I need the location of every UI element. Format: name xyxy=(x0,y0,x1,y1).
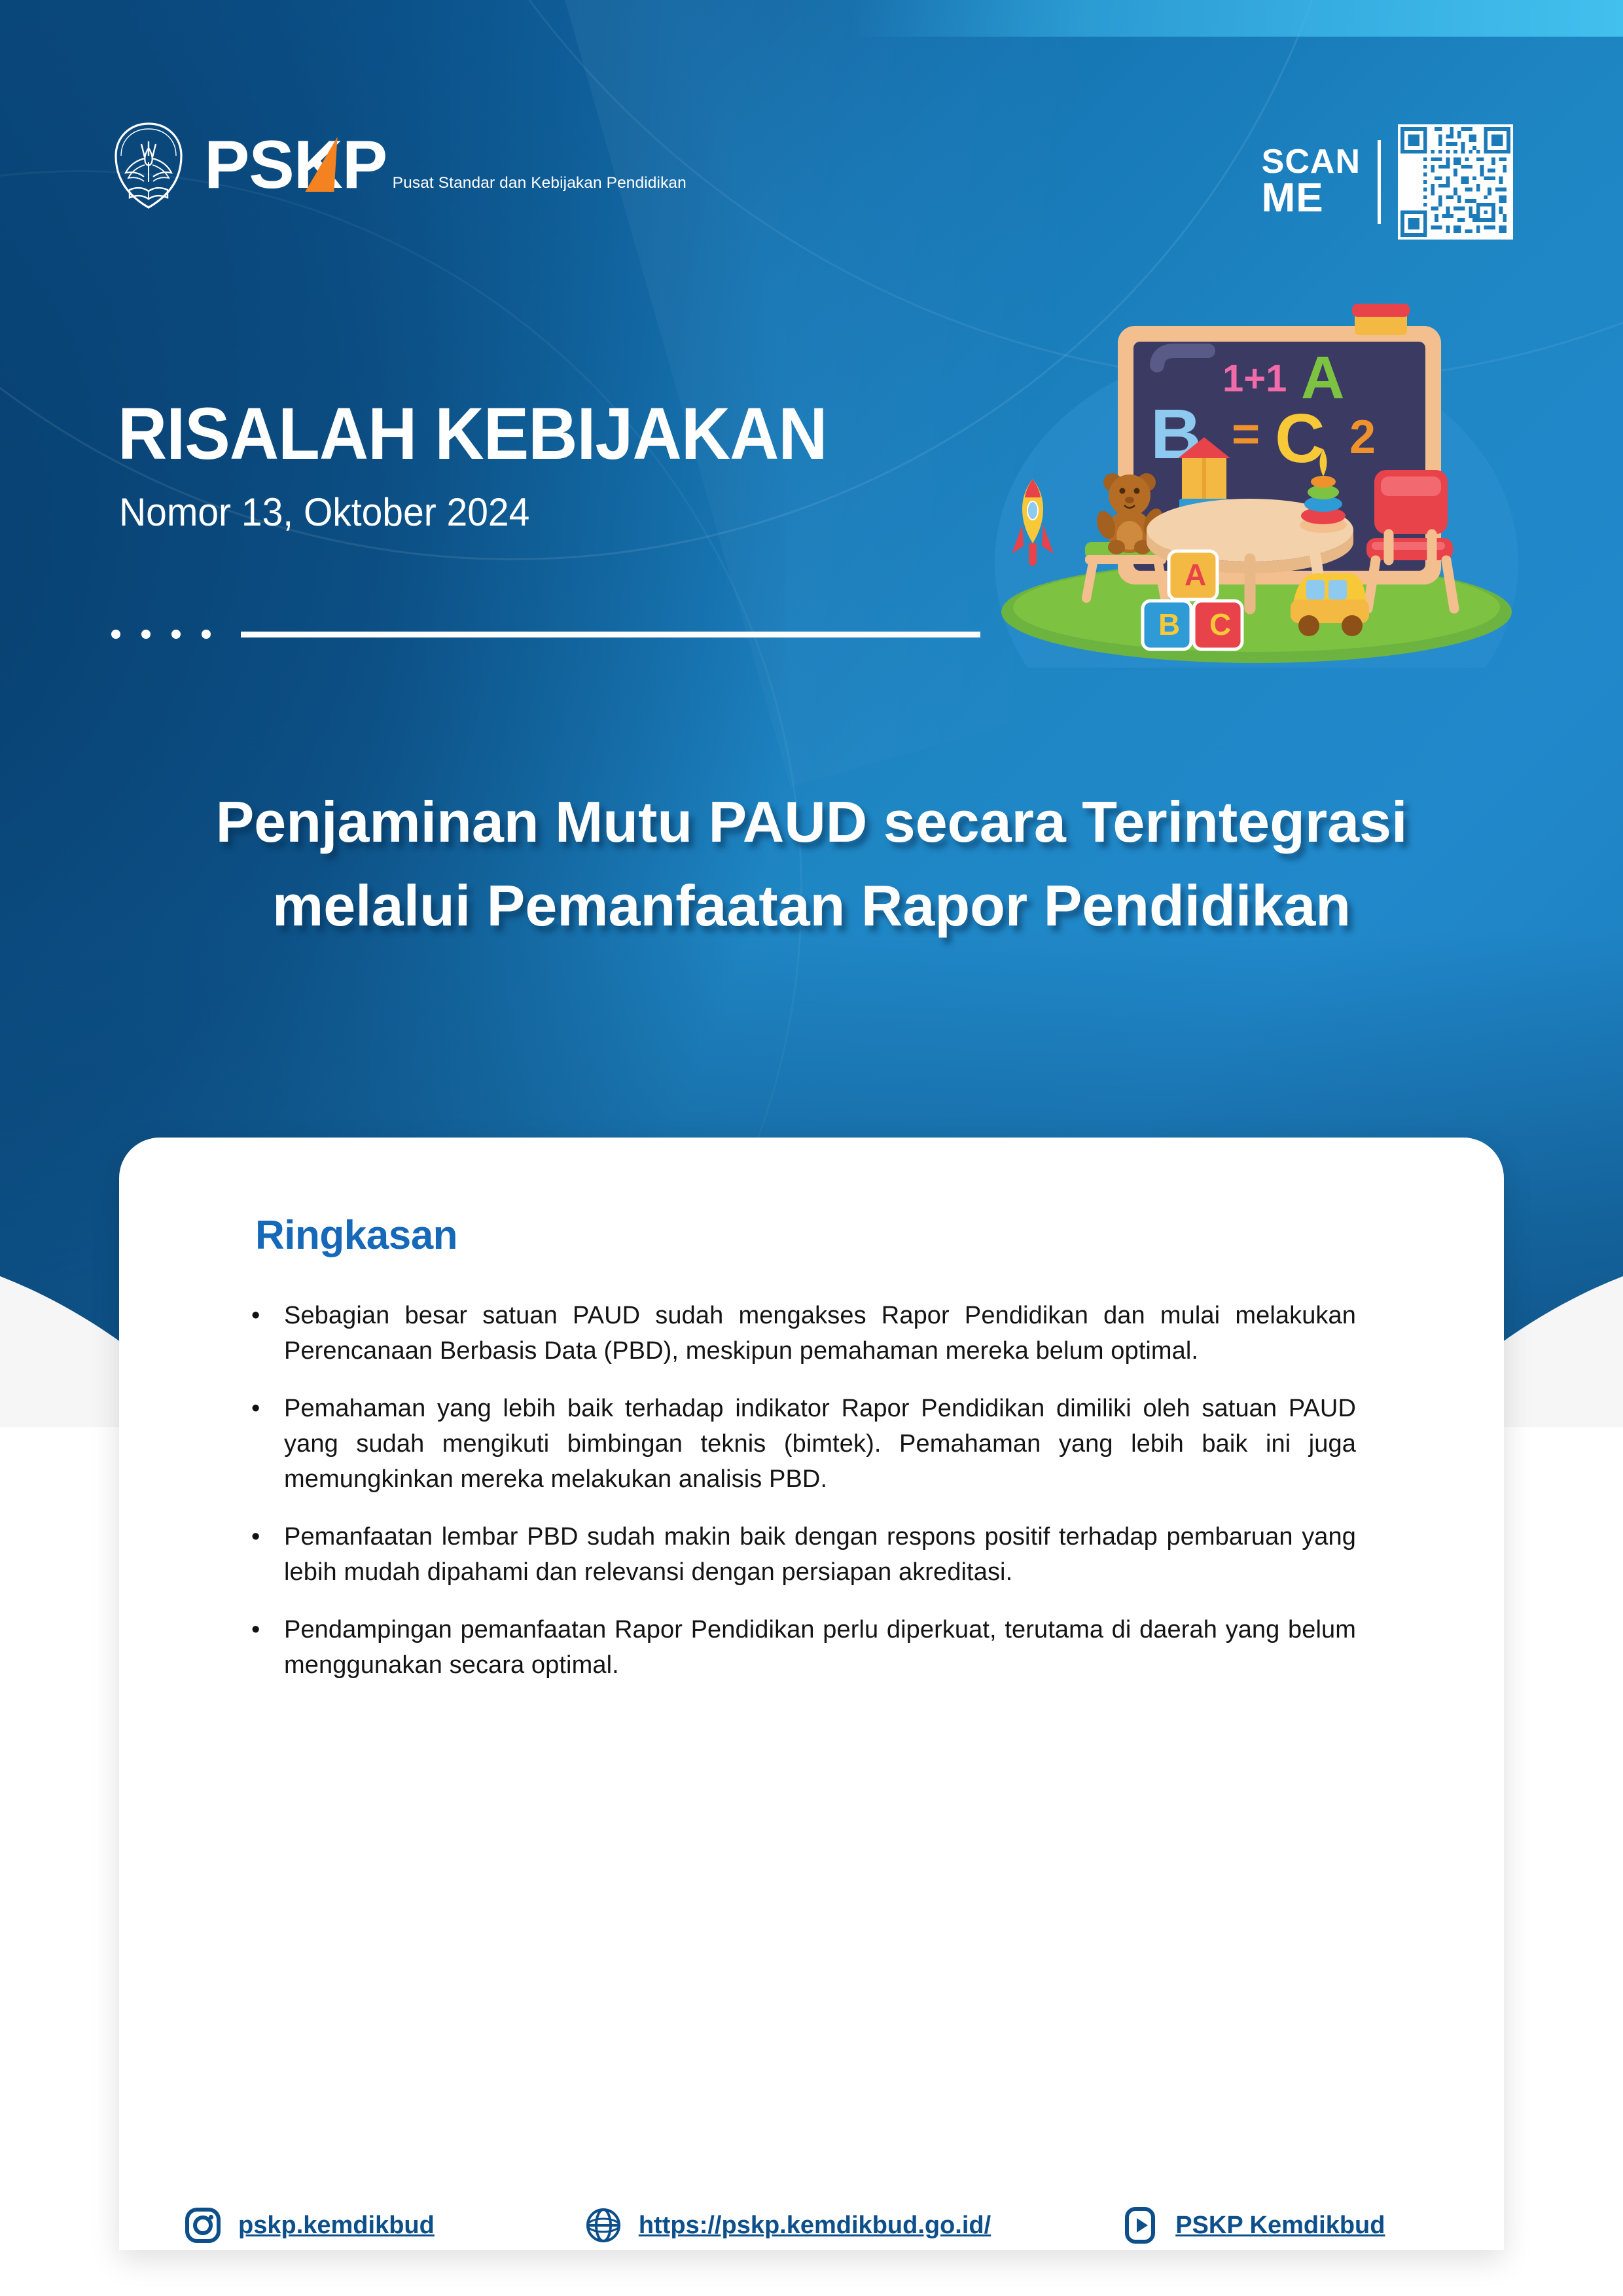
summary-bullet-list: • Sebagian besar satuan PAUD sudah menga… xyxy=(237,1299,1356,1706)
list-item-text: Pendampingan pemanfaatan Rapor Pendidika… xyxy=(284,1613,1356,1683)
globe-icon xyxy=(585,2207,622,2244)
page-title-line2: melalui Pemanfaatan Rapor Pendidikan xyxy=(118,864,1505,948)
logo-tagline: Pusat Standar dan Kebijakan Pendidikan xyxy=(393,174,687,192)
summary-card: Ringkasan • Sebagian besar satuan PAUD s… xyxy=(119,1138,1504,2250)
footer-instagram-link[interactable]: pskp.kemdikbud xyxy=(185,2207,435,2244)
divider-dot xyxy=(111,630,120,639)
logo-wordmark: PSKP xyxy=(204,133,387,198)
scan-me-line1: SCAN xyxy=(1262,146,1361,179)
summary-heading: Ringkasan xyxy=(255,1212,457,1259)
footer-social-bar: pskp.kemdikbud https://pskp.kemdikbud.go… xyxy=(119,2207,1504,2244)
divider-line xyxy=(241,632,980,637)
youtube-icon xyxy=(1122,2207,1158,2244)
svg-text:=: = xyxy=(1232,406,1260,461)
page-title: Penjaminan Mutu PAUD secara Terintegrasi… xyxy=(0,780,1623,948)
tut-wuri-handayani-emblem-icon xyxy=(110,122,187,209)
bullet-marker-icon: • xyxy=(237,1299,284,1369)
policy-brief-page: PSKP Pusat Standar dan Kebijakan Pendidi… xyxy=(0,0,1623,2296)
bullet-marker-icon: • xyxy=(237,1613,284,1683)
svg-text:1+1: 1+1 xyxy=(1222,357,1287,400)
footer-youtube-label: PSKP Kemdikbud xyxy=(1175,2212,1385,2240)
list-item: • Pendampingan pemanfaatan Rapor Pendidi… xyxy=(237,1613,1356,1683)
instagram-icon xyxy=(185,2207,221,2244)
logo-wordmark-text: PSKP xyxy=(204,127,387,203)
list-item: • Pemahaman yang lebih baik terhadap ind… xyxy=(237,1391,1356,1498)
scan-me-divider xyxy=(1378,140,1381,224)
dots-and-rule-divider xyxy=(111,630,980,639)
bullet-marker-icon: • xyxy=(237,1520,284,1590)
divider-dot xyxy=(202,630,211,639)
page-title-line1: Penjaminan Mutu PAUD secara Terintegrasi xyxy=(118,780,1505,864)
list-item: • Pemanfaatan lembar PBD sudah makin bai… xyxy=(237,1520,1356,1590)
logo-text-block: PSKP Pusat Standar dan Kebijakan Pendidi… xyxy=(204,133,687,198)
svg-text:2: 2 xyxy=(1349,411,1376,463)
list-item: • Sebagian besar satuan PAUD sudah menga… xyxy=(237,1299,1356,1369)
svg-text:C: C xyxy=(1209,607,1231,641)
svg-text:C: C xyxy=(1275,400,1325,477)
svg-text:A: A xyxy=(1185,558,1206,592)
page-kicker-title: RISALAH KEBIJAKAN xyxy=(118,391,827,476)
svg-text:B: B xyxy=(1158,607,1180,641)
list-item-text: Sebagian besar satuan PAUD sudah mengaks… xyxy=(284,1299,1356,1369)
footer-youtube-link[interactable]: PSKP Kemdikbud xyxy=(1122,2207,1385,2244)
scan-me-label: SCAN ME xyxy=(1262,146,1378,217)
bullet-marker-icon: • xyxy=(237,1391,284,1498)
pskp-logo: PSKP Pusat Standar dan Kebijakan Pendidi… xyxy=(110,122,687,209)
divider-dot xyxy=(141,630,151,639)
issue-number: Nomor 13, Oktober 2024 xyxy=(119,490,529,535)
list-item-text: Pemahaman yang lebih baik terhadap indik… xyxy=(284,1391,1356,1498)
footer-website-label: https://pskp.kemdikbud.go.id/ xyxy=(639,2212,991,2240)
paud-classroom-illustration-icon: 1+1 A B = C 2 xyxy=(988,281,1525,668)
scan-me-line2: ME xyxy=(1262,179,1361,218)
scan-me-block[interactable]: SCAN ME xyxy=(1262,124,1513,240)
list-item-text: Pemanfaatan lembar PBD sudah makin baik … xyxy=(284,1520,1356,1590)
divider-dot xyxy=(171,630,181,639)
footer-instagram-label: pskp.kemdikbud xyxy=(238,2212,435,2240)
footer-website-link[interactable]: https://pskp.kemdikbud.go.id/ xyxy=(585,2207,991,2244)
qr-code-icon[interactable] xyxy=(1398,124,1513,240)
hero-top-cyan-strip xyxy=(851,0,1623,37)
